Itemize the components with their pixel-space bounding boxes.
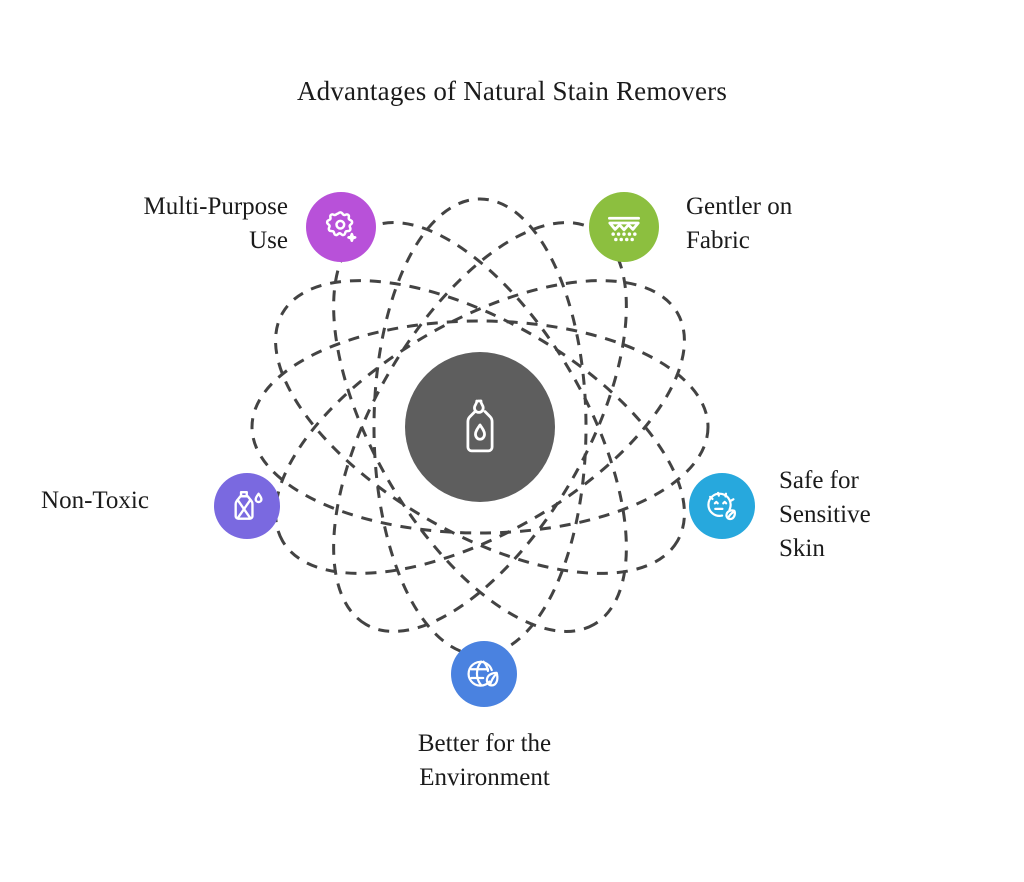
no-toxic-jug-icon: [228, 487, 266, 525]
gear-sparkle-icon: [321, 207, 361, 247]
page-title: Advantages of Natural Stain Removers: [0, 74, 1024, 108]
node-multi-purpose-use[interactable]: [306, 192, 376, 262]
label-better-for-the-environment: Better for the Environment: [312, 727, 657, 795]
globe-leaf-icon: [465, 655, 503, 693]
node-non-toxic[interactable]: [214, 473, 280, 539]
label-non-toxic: Non-Toxic: [0, 484, 190, 518]
infographic-canvas: Advantages of Natural Stain Removers: [0, 0, 1024, 882]
node-gentler-on-fabric[interactable]: [589, 192, 659, 262]
node-safe-for-sensitive-skin[interactable]: [689, 473, 755, 539]
detergent-bottle-icon: [445, 392, 515, 462]
face-leaf-icon: [703, 487, 741, 525]
center-node[interactable]: [405, 352, 555, 502]
fabric-weave-icon: [604, 207, 644, 247]
label-safe-for-sensitive-skin: Safe for Sensitive Skin: [779, 464, 1019, 566]
label-multi-purpose-use: Multi-Purpose Use: [38, 190, 288, 258]
node-better-for-the-environment[interactable]: [451, 641, 517, 707]
label-gentler-on-fabric: Gentler on Fabric: [686, 190, 946, 258]
